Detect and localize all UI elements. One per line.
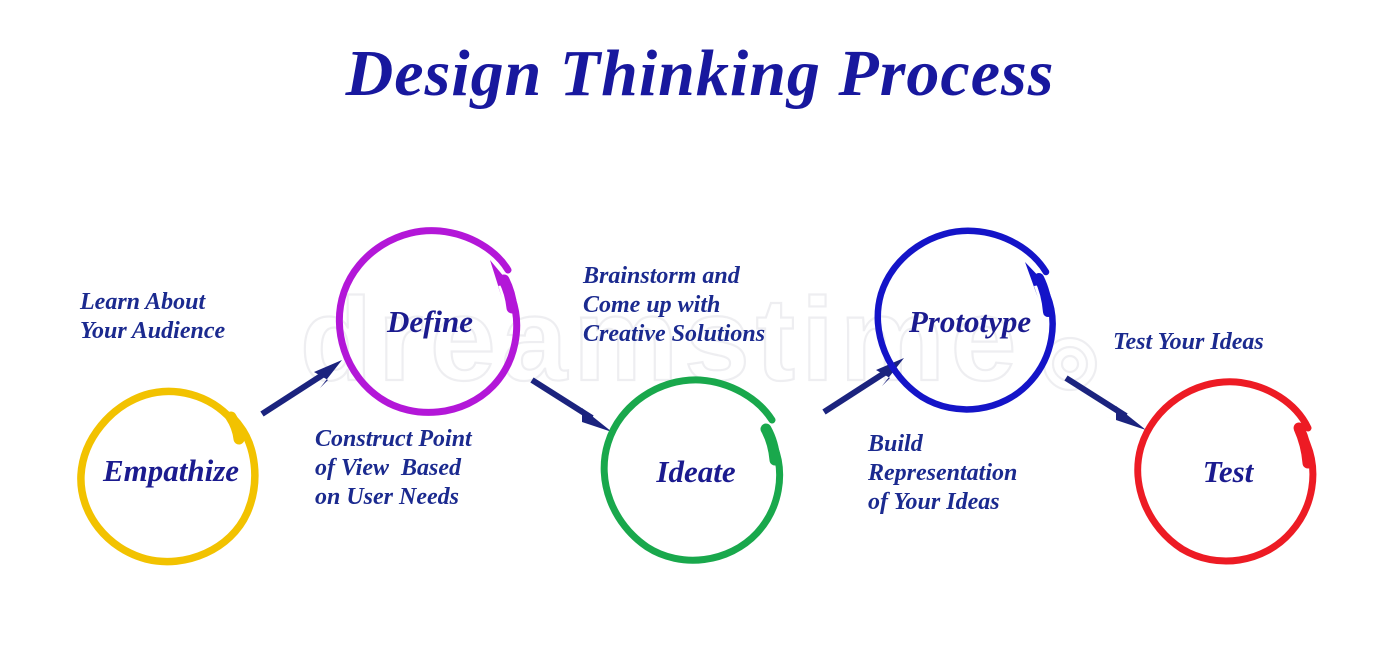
stage-define[interactable]: Define bbox=[330, 222, 530, 422]
define-caption: Construct Point of View Based on User Ne… bbox=[315, 425, 472, 511]
empathize-circle-icon bbox=[71, 371, 271, 571]
stage-prototype[interactable]: Prototype bbox=[870, 222, 1070, 422]
define-circle-icon bbox=[330, 222, 530, 422]
ideate-circle-icon bbox=[596, 372, 796, 572]
test-circle-icon bbox=[1128, 372, 1328, 572]
stage-test[interactable]: Test bbox=[1128, 372, 1328, 572]
stage-empathize[interactable]: Empathize bbox=[71, 371, 271, 571]
page-title: Design Thinking Process bbox=[0, 36, 1400, 112]
ideate-caption: Brainstorm and Come up with Creative Sol… bbox=[583, 262, 765, 348]
stage-ideate[interactable]: Ideate bbox=[596, 372, 796, 572]
prototype-circle-icon bbox=[870, 222, 1070, 422]
empathize-caption: Learn About Your Audience bbox=[80, 288, 225, 346]
diagram-canvas: dreamstime Design Thinking Process Empat… bbox=[0, 0, 1400, 648]
test-caption: Test Your Ideas bbox=[1113, 328, 1264, 357]
prototype-caption: Build Representation of Your Ideas bbox=[868, 430, 1017, 516]
